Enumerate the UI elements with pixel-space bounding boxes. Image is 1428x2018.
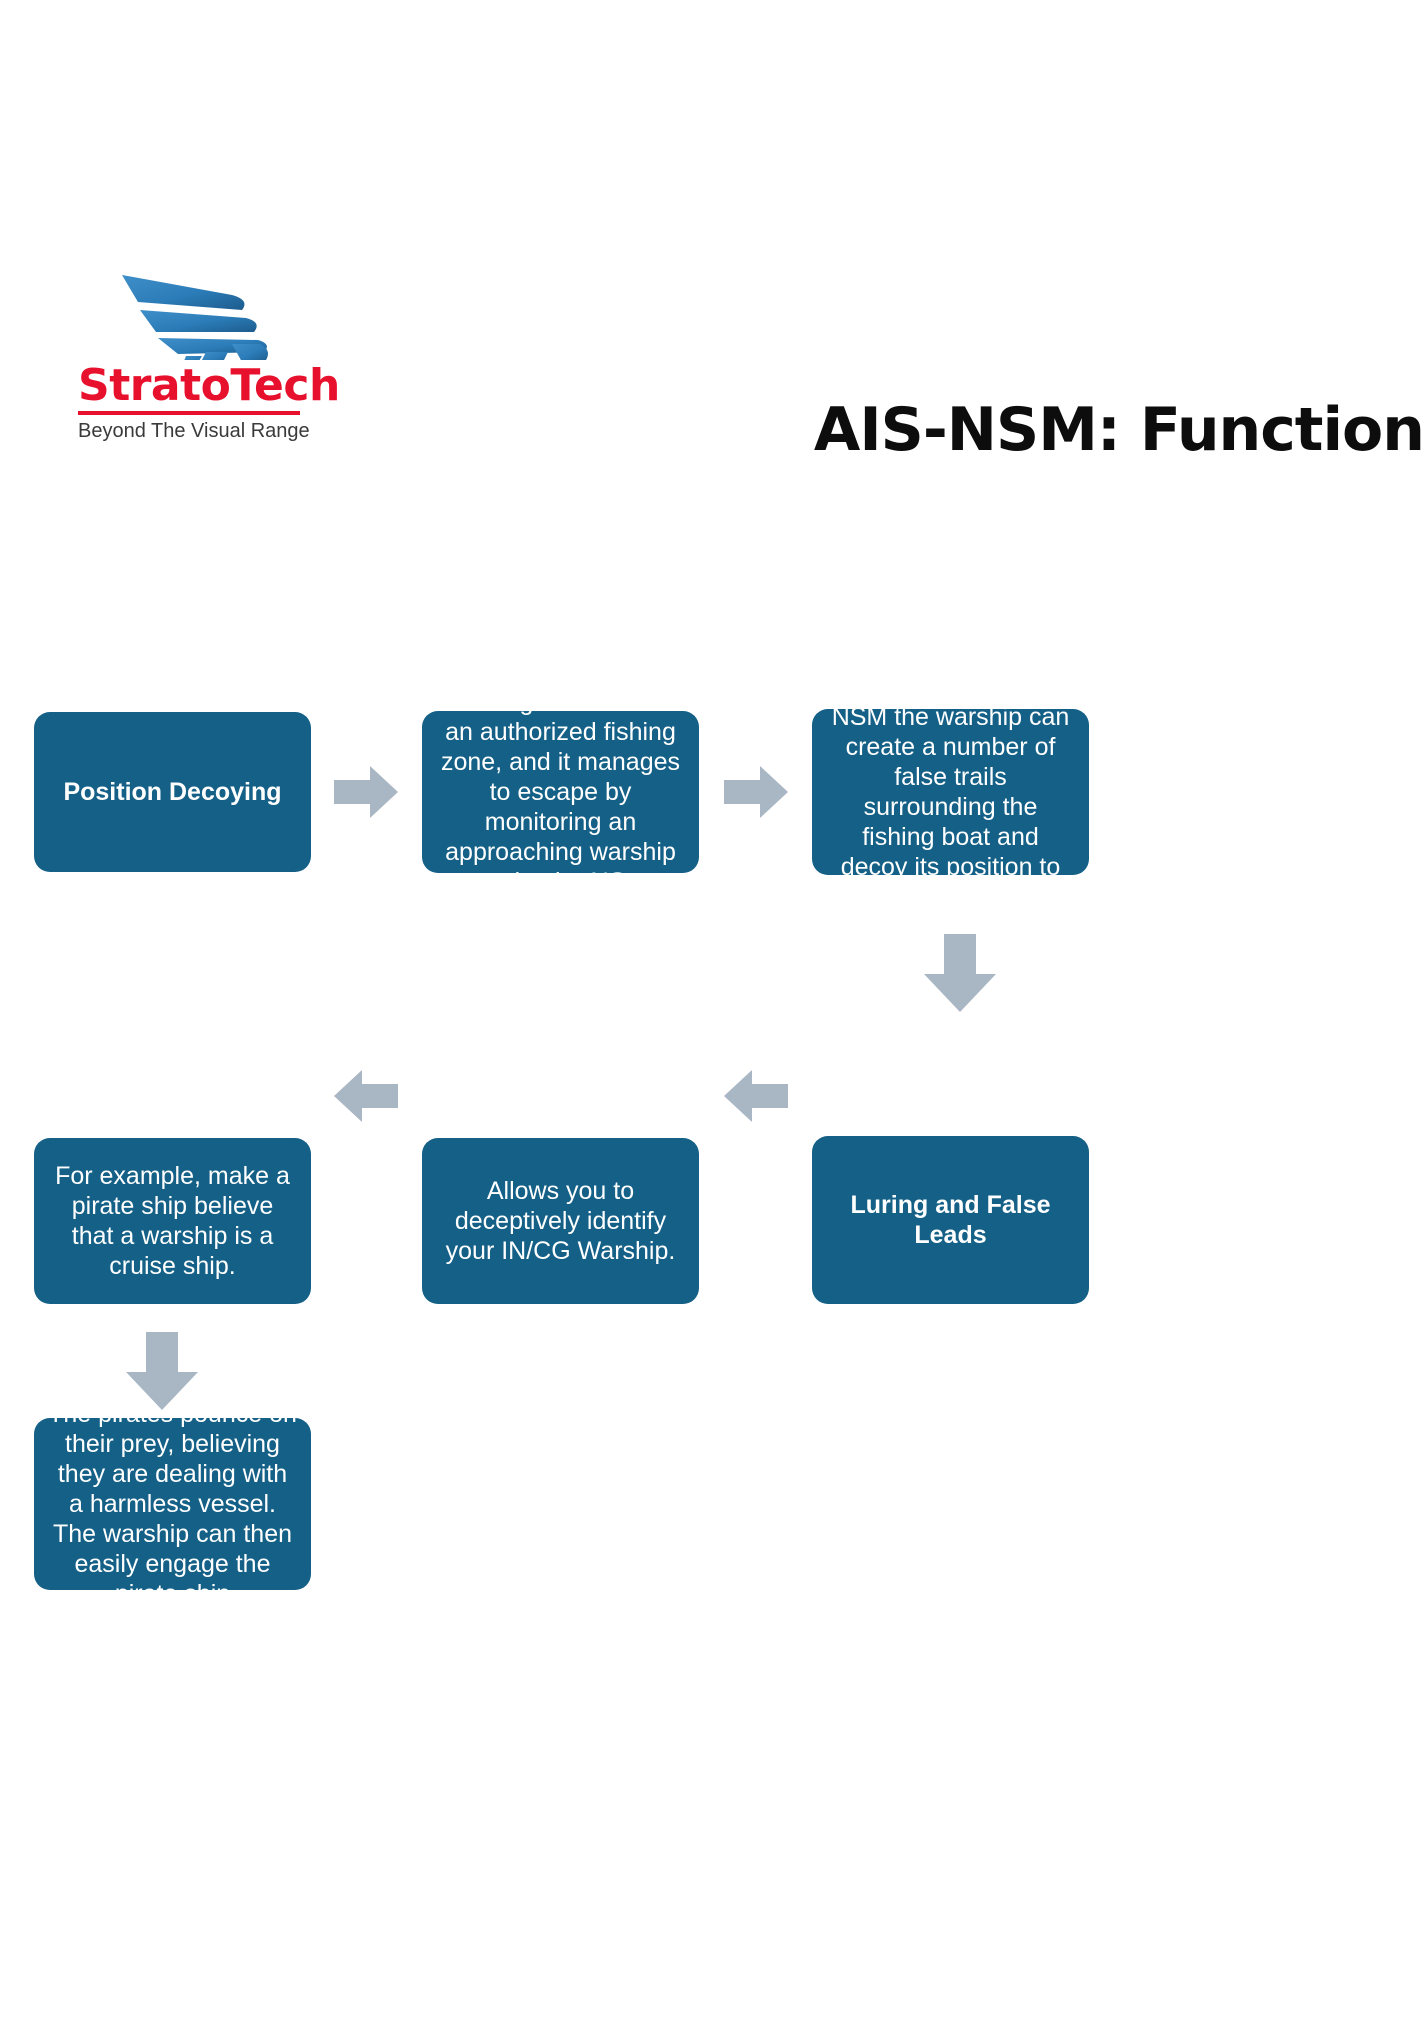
flow-node-label: Position Decoying — [48, 777, 297, 807]
logo-tagline: Beyond The Visual Range — [78, 420, 352, 443]
flow-node-label: The pirates pounce on their prey, believ… — [48, 1399, 297, 1609]
arrow-right-icon — [720, 756, 792, 828]
page-header: StratoTech Beyond The Visual Range AIS-N… — [0, 0, 1428, 560]
page-title: AIS-NSM: Function — [814, 395, 1428, 465]
company-logo: StratoTech Beyond The Visual Range — [72, 240, 352, 443]
flow-node-luring-and-false-leads[interactable]: Luring and False Leads — [812, 1136, 1089, 1304]
arrow-left-icon — [330, 1060, 402, 1132]
flow-node-label: Allows you to deceptively identify your … — [436, 1176, 685, 1266]
arrow-down-icon — [918, 930, 1002, 1016]
flow-node-label: A fishing boat is not in an authorized f… — [436, 687, 685, 897]
flow-node-label: For example, make a pirate ship believe … — [48, 1161, 297, 1281]
flow-node-pirates-pounce[interactable]: The pirates pounce on their prey, believ… — [34, 1418, 311, 1590]
flow-node-deceptive-identification[interactable]: Allows you to deceptively identify your … — [422, 1138, 699, 1304]
flow-node-pirate-example[interactable]: For example, make a pirate ship believe … — [34, 1138, 311, 1304]
flow-node-position-decoying[interactable]: Position Decoying — [34, 712, 311, 872]
flow-node-label: Luring and False Leads — [826, 1190, 1075, 1250]
logo-wordmark: StratoTech — [78, 364, 352, 408]
arrow-left-icon — [720, 1060, 792, 1132]
flow-node-false-trails[interactable]: However, with AIS–NSM the warship can cr… — [812, 709, 1089, 875]
arrow-right-icon — [330, 756, 402, 828]
flow-node-fishing-boat[interactable]: A fishing boat is not in an authorized f… — [422, 711, 699, 873]
logo-underline — [78, 411, 300, 415]
wing-logo-icon — [82, 240, 282, 360]
flow-node-label: However, with AIS–NSM the warship can cr… — [826, 672, 1075, 912]
